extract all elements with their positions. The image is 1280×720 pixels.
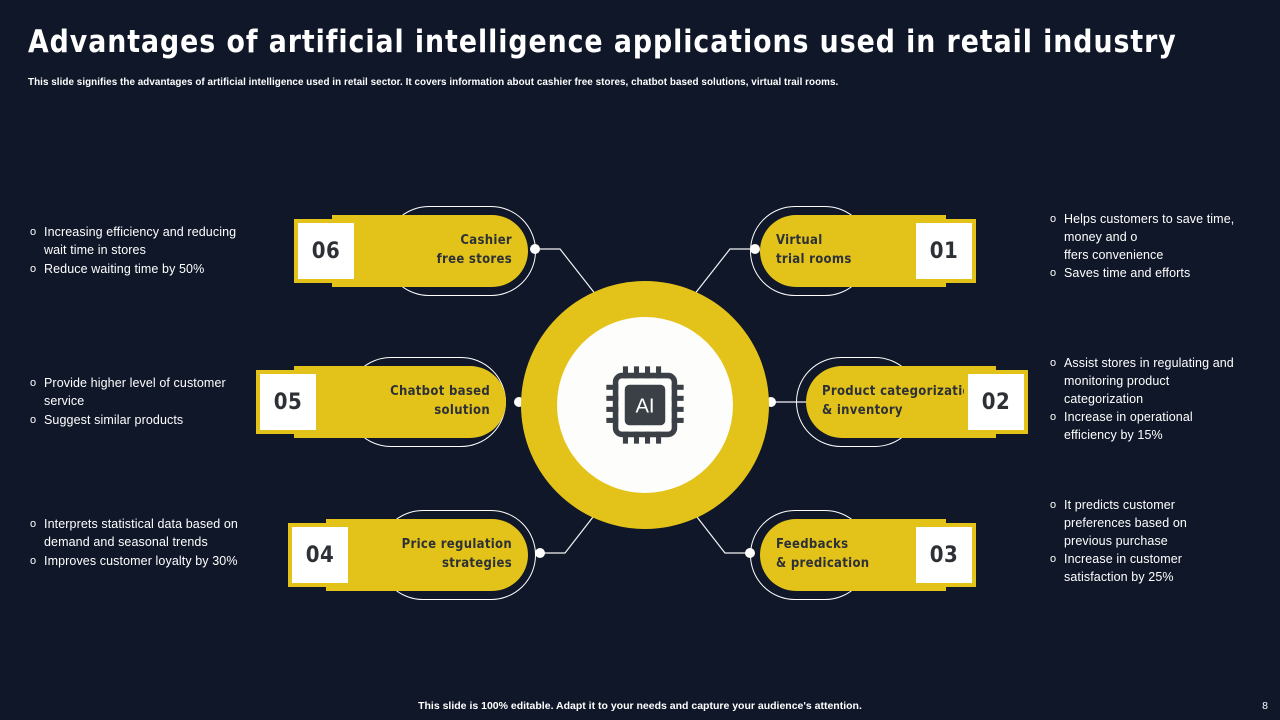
list-item: o Increase in operational efficiency by …	[1050, 409, 1250, 445]
node-06-number: 06	[294, 219, 358, 283]
bullet-text: Provide higher level of customer service	[44, 375, 262, 411]
list-item: o Assist stores in regulating and monito…	[1050, 355, 1250, 408]
bullet-marker-icon: o	[1050, 211, 1064, 228]
node-05-number: 05	[256, 370, 320, 434]
bullet-marker-icon: o	[30, 516, 44, 533]
node-06-label: Cashier free stores	[332, 232, 528, 270]
node-01[interactable]: Virtual trial rooms 01	[760, 215, 984, 287]
bullet-marker-icon: o	[1050, 551, 1064, 568]
node-03-number-text: 03	[930, 543, 959, 568]
node-05-label: Chatbot based solution	[294, 383, 506, 421]
bullets-right-bottom: o It predicts customer preferences based…	[1050, 497, 1250, 588]
node-03[interactable]: Feedbacks & predication 03	[760, 519, 984, 591]
bullet-marker-icon: o	[1050, 497, 1064, 514]
list-item: o Improves customer loyalty by 30%	[30, 553, 270, 571]
list-item: o It predicts customer preferences based…	[1050, 497, 1250, 550]
bullet-text: Increase in customer satisfaction by 25%	[1064, 551, 1250, 587]
bullet-text: Reduce waiting time by 50%	[44, 261, 270, 279]
bullet-text: It predicts customer preferences based o…	[1064, 497, 1250, 550]
node-04[interactable]: Price regulation strategies 04	[288, 519, 540, 591]
node-05[interactable]: Chatbot based solution 05	[256, 366, 520, 438]
bullet-text: Assist stores in regulating and monitori…	[1064, 355, 1250, 408]
list-item: o Reduce waiting time by 50%	[30, 261, 270, 279]
hub-label: AI	[635, 395, 654, 417]
node-04-pill[interactable]: Price regulation strategies	[326, 519, 528, 591]
bullets-left-middle: o Provide higher level of customer servi…	[30, 375, 262, 430]
node-05-number-text: 05	[274, 390, 303, 415]
bullet-text: Interprets statistical data based on dem…	[44, 516, 270, 552]
bullet-text: Increase in operational efficiency by 15…	[1064, 409, 1250, 445]
list-item: o Provide higher level of customer servi…	[30, 375, 262, 411]
bullet-marker-icon: o	[30, 553, 44, 570]
bullet-marker-icon: o	[30, 261, 44, 278]
bullet-text: Saves time and efforts	[1064, 265, 1260, 283]
bullet-marker-icon: o	[1050, 265, 1064, 282]
list-item: o Saves time and efforts	[1050, 265, 1260, 283]
central-hub: AI	[521, 281, 769, 529]
bullet-marker-icon: o	[30, 224, 44, 241]
list-item: o Helps customers to save time, money an…	[1050, 211, 1260, 264]
node-04-number: 04	[288, 523, 352, 587]
bullets-left-top: o Increasing efficiency and reducing wai…	[30, 224, 270, 279]
bullet-marker-icon: o	[1050, 355, 1064, 372]
node-02[interactable]: Product categorization & inventory 02	[806, 366, 1034, 438]
bullet-text: Helps customers to save time, money and …	[1064, 211, 1260, 264]
node-04-number-text: 04	[306, 543, 335, 568]
bullet-text: Increasing efficiency and reducing wait …	[44, 224, 270, 260]
bullet-marker-icon: o	[30, 375, 44, 392]
node-01-number: 01	[912, 219, 976, 283]
bullets-right-top: o Helps customers to save time, money an…	[1050, 211, 1260, 284]
list-item: o Suggest similar products	[30, 412, 262, 430]
bullet-text: Suggest similar products	[44, 412, 262, 430]
bullet-marker-icon: o	[30, 412, 44, 429]
node-01-number-text: 01	[930, 239, 959, 264]
node-02-number-text: 02	[982, 390, 1011, 415]
node-05-pill[interactable]: Chatbot based solution	[294, 366, 506, 438]
node-06-number-text: 06	[312, 239, 341, 264]
node-04-label: Price regulation strategies	[326, 536, 528, 574]
bullets-right-middle: o Assist stores in regulating and monito…	[1050, 355, 1250, 446]
ai-chip-icon: AI	[599, 359, 691, 451]
node-06[interactable]: Cashier free stores 06	[294, 215, 534, 287]
bullet-text: Improves customer loyalty by 30%	[44, 553, 270, 571]
list-item: o Increase in customer satisfaction by 2…	[1050, 551, 1250, 587]
page-number: 8	[1262, 700, 1268, 712]
list-item: o Increasing efficiency and reducing wai…	[30, 224, 270, 260]
node-06-pill[interactable]: Cashier free stores	[332, 215, 528, 287]
node-03-number: 03	[912, 523, 976, 587]
node-02-number: 02	[964, 370, 1028, 434]
bullet-marker-icon: o	[1050, 409, 1064, 426]
footer-note: This slide is 100% editable. Adapt it to…	[0, 700, 1280, 712]
list-item: o Interprets statistical data based on d…	[30, 516, 270, 552]
hub-inner-circle: AI	[557, 317, 733, 493]
bullets-left-bottom: o Interprets statistical data based on d…	[30, 516, 270, 571]
